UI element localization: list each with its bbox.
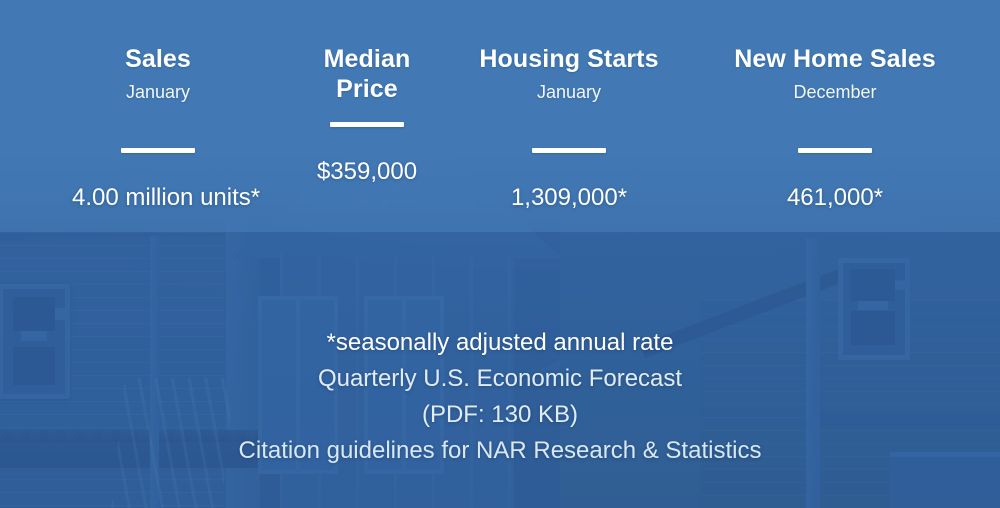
stat-column-sales: Sales January 4.00 million units* [72, 44, 244, 213]
stat-divider-sales [121, 148, 195, 153]
link-pdf-size[interactable]: (PDF: 130 KB) [0, 397, 1000, 433]
stat-period-new-home-sales: December [706, 80, 964, 104]
stat-title-new-home-sales: New Home Sales [706, 44, 964, 74]
footer-notes: *seasonally adjusted annual rate Quarter… [0, 325, 1000, 469]
stat-title-sales: Sales [72, 44, 244, 74]
footnote-seasonally-adjusted: *seasonally adjusted annual rate [0, 325, 1000, 361]
stats-row: Sales January 4.00 million units* Median… [0, 44, 1000, 234]
stat-divider-housing-starts [532, 148, 606, 153]
stat-column-housing-starts: Housing Starts January 1,309,000* [458, 44, 680, 213]
stat-column-median-price: Median Price $359,000 [292, 44, 442, 187]
stat-title-median-price-line1: Median [292, 44, 442, 74]
stat-title-housing-starts: Housing Starts [458, 44, 680, 74]
stat-period-sales: January [72, 80, 244, 104]
stat-title-median-price-line2: Price [292, 74, 442, 104]
banner-content: Sales January 4.00 million units* Median… [0, 0, 1000, 508]
stat-divider-new-home-sales [798, 148, 872, 153]
link-quarterly-economic-forecast[interactable]: Quarterly U.S. Economic Forecast [0, 361, 1000, 397]
stat-column-new-home-sales: New Home Sales December 461,000* [706, 44, 964, 213]
stat-value-new-home-sales: 461,000* [706, 183, 964, 213]
link-citation-guidelines[interactable]: Citation guidelines for NAR Research & S… [0, 433, 1000, 469]
stat-divider-median-price [330, 122, 404, 127]
stat-value-housing-starts: 1,309,000* [458, 183, 680, 213]
stat-period-housing-starts: January [458, 80, 680, 104]
stat-value-median-price: $359,000 [292, 157, 442, 187]
housing-stats-banner: Sales January 4.00 million units* Median… [0, 0, 1000, 508]
stat-value-sales: 4.00 million units* [72, 183, 244, 213]
